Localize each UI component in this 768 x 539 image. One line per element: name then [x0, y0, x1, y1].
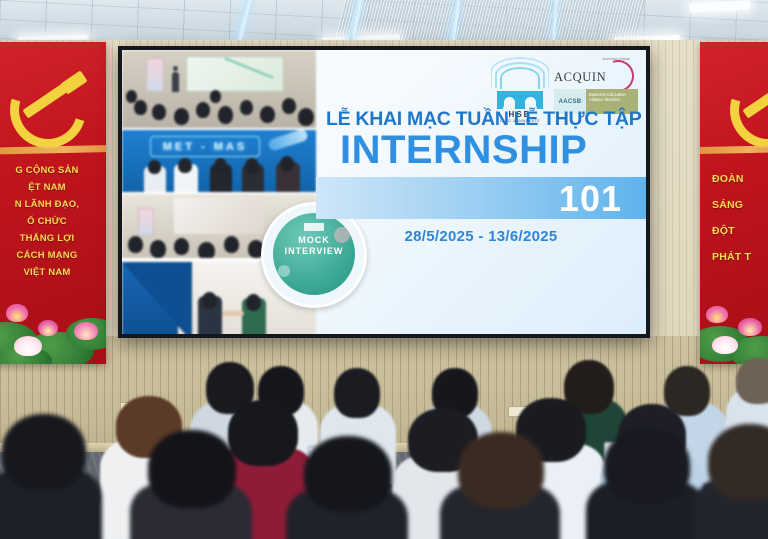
hammer-sickle-icon [4, 64, 90, 140]
acquin-name: ACQUIN [554, 70, 606, 85]
microphone-graphic [267, 130, 309, 152]
audience-head [334, 368, 380, 418]
banner-line: CÁCH MẠNG [0, 247, 106, 264]
audience-head [148, 430, 236, 508]
banner-line: ĐOÀN [712, 166, 768, 192]
audience-head [736, 358, 768, 404]
banner-right: ĐOÀN SÁNG ĐỘT PHÁT T [700, 42, 768, 364]
hsb-building-icon [497, 91, 543, 109]
audience-head [228, 400, 298, 466]
banner-line: VIỆT NAM [0, 264, 106, 281]
blue-wedge-graphic [122, 262, 192, 334]
slide-accent-band: 101 [316, 177, 646, 219]
stage-backdrop [174, 198, 264, 234]
decorative-dot [278, 265, 290, 277]
banner-line: ỆT NAM [0, 179, 106, 196]
banner-divider [700, 145, 768, 154]
banner-line: G CỘNG SẢN [0, 162, 106, 179]
slide-content: HSB LEAD & INNOVATE accredited program A… [316, 50, 646, 334]
presentation-slide: MET - MAS [122, 50, 646, 334]
speaker-figure [172, 72, 179, 92]
slide-dates: 28/5/2025 - 13/6/2025 [316, 228, 646, 245]
lotus-decoration [0, 292, 106, 364]
audience-head [604, 428, 690, 504]
audience-head [2, 414, 86, 490]
slide-band-number: 101 [559, 178, 622, 220]
collage-photo-panel: MET - MAS [122, 130, 316, 192]
collage-photo-classroom [122, 50, 316, 128]
banner-line: Ổ CHỨC [0, 213, 106, 230]
lecture-hall-scene: G CỘNG SẢN ỆT NAM N LÃNH ĐẠO, Ổ CHỨC THẮ… [0, 0, 768, 539]
poster-stand [138, 208, 154, 236]
banner-line: ĐỘT [712, 218, 768, 244]
led-screen-frame: MET - MAS [118, 46, 650, 338]
slide-title-english: INTERNSHIP [340, 128, 646, 173]
banner-line: SÁNG [712, 192, 768, 218]
hammer-sickle-icon [724, 64, 768, 140]
audience-head [304, 436, 392, 512]
banner-line: N LÃNH ĐẠO, [0, 196, 106, 213]
acquin-logo: accredited program ACQUIN [554, 61, 636, 91]
banner-line: PHÁT T [712, 244, 768, 270]
banner-line: THẮNG LỢI [0, 230, 106, 247]
banner-right-text: ĐOÀN SÁNG ĐỘT PHÁT T [700, 166, 768, 270]
poster-stand [146, 58, 164, 92]
lotus-decoration [700, 292, 768, 364]
handshake [222, 311, 244, 316]
banner-left: G CỘNG SẢN ỆT NAM N LÃNH ĐẠO, Ổ CHỨC THẮ… [0, 42, 106, 364]
audience-head [458, 432, 544, 508]
met-mas-banner-label: MET - MAS [150, 136, 260, 157]
hsb-arcs-icon [491, 57, 549, 91]
banner-left-text: G CỘNG SẢN ỆT NAM N LÃNH ĐẠO, Ổ CHỨC THẮ… [0, 162, 106, 281]
hsb-logo: HSB LEAD & INNOVATE [490, 57, 550, 115]
projection-screen [186, 56, 284, 92]
banner-divider [0, 144, 106, 154]
